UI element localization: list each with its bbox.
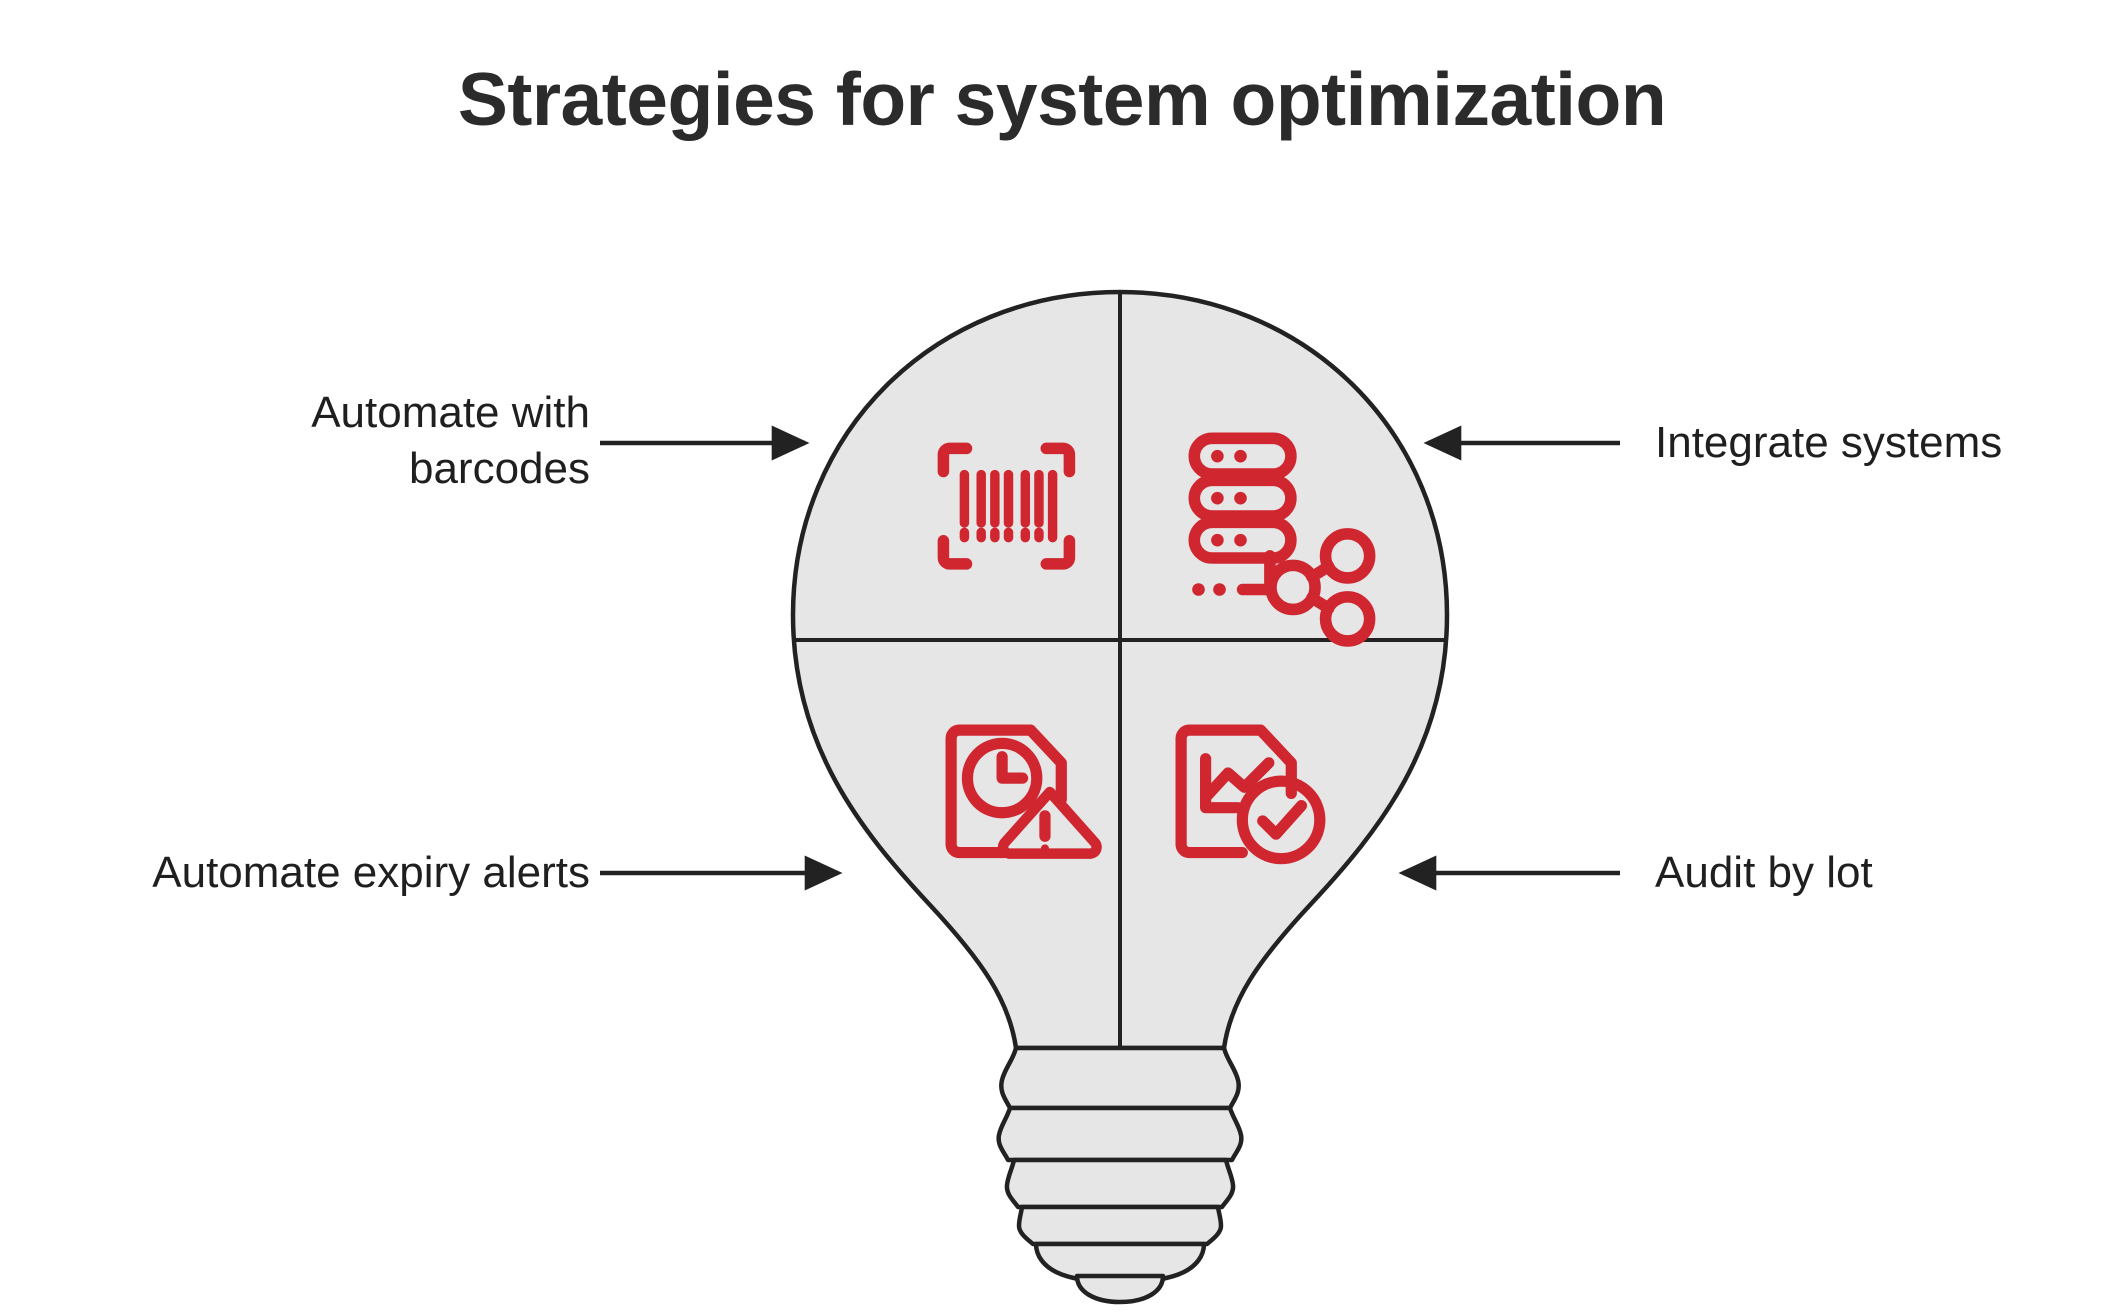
lightbulb-diagram [0, 0, 2124, 1312]
infographic-canvas: Strategies for system optimization Autom… [0, 0, 2124, 1312]
bulb-screw-base [999, 1048, 1242, 1302]
